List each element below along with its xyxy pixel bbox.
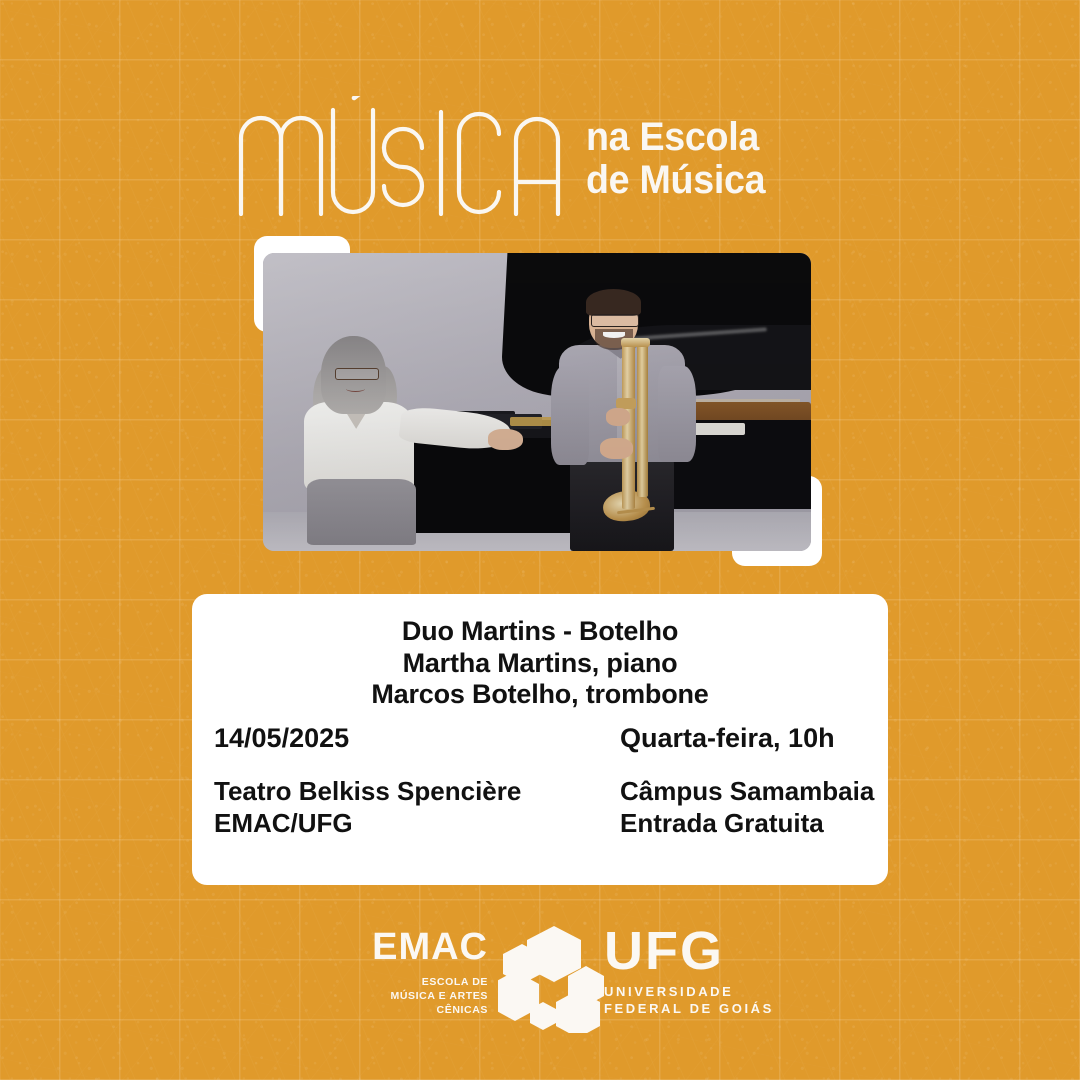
event-details-left: 14/05/2025 Teatro Belkiss Spencière EMAC… — [214, 722, 521, 839]
event-title: Duo Martins - Botelho Martha Martins, pi… — [192, 616, 888, 711]
event-date: 14/05/2025 — [214, 722, 521, 754]
ufg-wordmark: UFG — [604, 924, 774, 978]
headline-text: na Escola de Música — [586, 116, 765, 202]
performers-photo — [263, 253, 811, 551]
hexagon-cluster-icon — [498, 918, 608, 1033]
poster-root: na Escola de Música — [0, 0, 1080, 1080]
header: na Escola de Música — [0, 44, 1080, 184]
event-info-card: Duo Martins - Botelho Martha Martins, pi… — [192, 594, 888, 885]
footer-logos: EMAC ESCOLA DE MÚSICA E ARTES CÊNICAS UF… — [0, 918, 1080, 1033]
emac-logo: EMAC ESCOLA DE MÚSICA E ARTES CÊNICAS — [352, 928, 488, 1018]
event-venue: Teatro Belkiss Spencière EMAC/UFG — [214, 776, 521, 838]
musica-logo-icon — [236, 96, 576, 216]
event-details-right: Quarta-feira, 10h Câmpus Samambaia Entra… — [620, 722, 874, 839]
event-weekday-time: Quarta-feira, 10h — [620, 722, 874, 754]
ufg-hexagon-mark — [498, 918, 608, 1033]
emac-wordmark: EMAC — [352, 928, 488, 966]
photo-vignette — [263, 253, 811, 551]
musica-logo-wordmark — [236, 96, 576, 216]
emac-subtitle: ESCOLA DE MÚSICA E ARTES CÊNICAS — [352, 975, 488, 1018]
ufg-logo: UFG UNIVERSIDADE FEDERAL DE GOIÁS — [604, 924, 774, 1017]
ufg-subtitle: UNIVERSIDADE FEDERAL DE GOIÁS — [604, 983, 774, 1017]
event-campus-admission: Câmpus Samambaia Entrada Gratuita — [620, 776, 874, 838]
photo-frame — [248, 236, 828, 566]
